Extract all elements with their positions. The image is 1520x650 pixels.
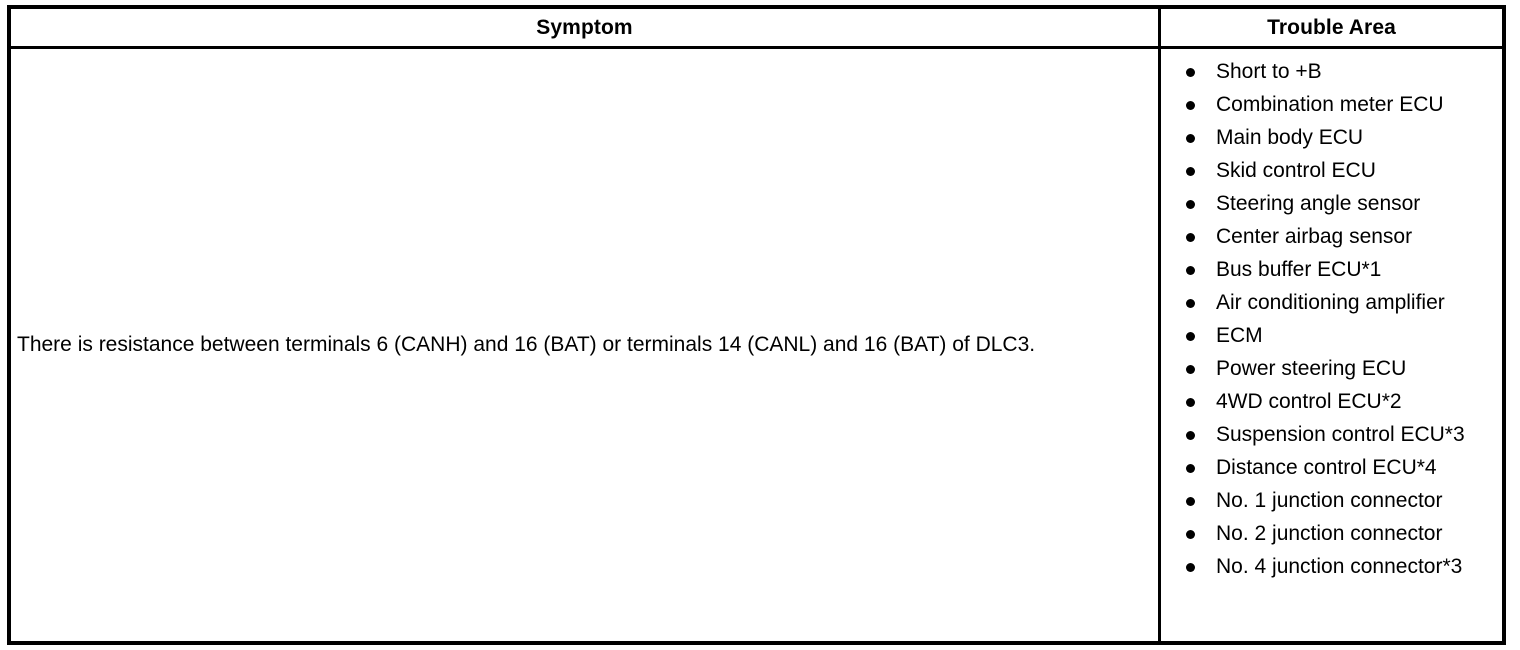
bullet-icon bbox=[1186, 266, 1195, 275]
list-item: Suspension control ECU*3 bbox=[1183, 418, 1498, 451]
list-item: Air conditioning amplifier bbox=[1183, 286, 1498, 319]
bullet-icon bbox=[1186, 431, 1195, 440]
list-item: Power steering ECU bbox=[1183, 352, 1498, 385]
page-canvas: Symptom Trouble Area There is resistance… bbox=[0, 0, 1520, 650]
list-item-label: ECM bbox=[1216, 324, 1263, 347]
bullet-icon bbox=[1186, 563, 1195, 572]
list-item: Bus buffer ECU*1 bbox=[1183, 253, 1498, 286]
bullet-icon bbox=[1186, 101, 1195, 110]
list-item-label: Center airbag sensor bbox=[1216, 225, 1412, 248]
list-item-label: Short to +B bbox=[1216, 60, 1322, 83]
bullet-icon bbox=[1186, 134, 1195, 143]
bullet-icon bbox=[1186, 398, 1195, 407]
bullet-icon bbox=[1186, 68, 1195, 77]
list-item-label: No. 1 junction connector bbox=[1216, 489, 1442, 512]
list-item-label: Air conditioning amplifier bbox=[1216, 291, 1445, 314]
list-item: Distance control ECU*4 bbox=[1183, 451, 1498, 484]
list-item: No. 2 junction connector bbox=[1183, 517, 1498, 550]
bullet-icon bbox=[1186, 233, 1195, 242]
list-item: 4WD control ECU*2 bbox=[1183, 385, 1498, 418]
list-item-label: Bus buffer ECU*1 bbox=[1216, 258, 1381, 281]
trouble-area-cell: Short to +B Combination meter ECU Main b… bbox=[1161, 49, 1502, 641]
list-item: Short to +B bbox=[1183, 55, 1498, 88]
list-item: Main body ECU bbox=[1183, 121, 1498, 154]
list-item-label: No. 2 junction connector bbox=[1216, 522, 1442, 545]
list-item: Combination meter ECU bbox=[1183, 88, 1498, 121]
bullet-icon bbox=[1186, 332, 1195, 341]
symptom-cell: There is resistance between terminals 6 … bbox=[11, 49, 1161, 641]
diagnostic-table: Symptom Trouble Area There is resistance… bbox=[7, 5, 1506, 645]
bullet-icon bbox=[1186, 464, 1195, 473]
list-item: No. 1 junction connector bbox=[1183, 484, 1498, 517]
list-item-label: Skid control ECU bbox=[1216, 159, 1376, 182]
list-item: No. 4 junction connector*3 bbox=[1183, 550, 1498, 583]
bullet-icon bbox=[1186, 365, 1195, 374]
bullet-icon bbox=[1186, 200, 1195, 209]
list-item-label: No. 4 junction connector*3 bbox=[1216, 555, 1462, 578]
table-header-row: Symptom Trouble Area bbox=[11, 9, 1502, 49]
bullet-icon bbox=[1186, 497, 1195, 506]
list-item-label: Combination meter ECU bbox=[1216, 93, 1444, 116]
list-item: Center airbag sensor bbox=[1183, 220, 1498, 253]
bullet-icon bbox=[1186, 530, 1195, 539]
list-item-label: Distance control ECU*4 bbox=[1216, 456, 1437, 479]
bullet-icon bbox=[1186, 167, 1195, 176]
list-item-label: 4WD control ECU*2 bbox=[1216, 390, 1402, 413]
column-header-symptom: Symptom bbox=[11, 9, 1161, 46]
bullet-icon bbox=[1186, 299, 1195, 308]
list-item: ECM bbox=[1183, 319, 1498, 352]
list-item-label: Suspension control ECU*3 bbox=[1216, 423, 1465, 446]
list-item-label: Steering angle sensor bbox=[1216, 192, 1420, 215]
list-item-label: Main body ECU bbox=[1216, 126, 1363, 149]
table-body-row: There is resistance between terminals 6 … bbox=[11, 49, 1502, 641]
list-item: Steering angle sensor bbox=[1183, 187, 1498, 220]
symptom-description: There is resistance between terminals 6 … bbox=[17, 329, 1035, 361]
list-item: Skid control ECU bbox=[1183, 154, 1498, 187]
column-header-trouble-area: Trouble Area bbox=[1161, 9, 1502, 46]
trouble-area-list: Short to +B Combination meter ECU Main b… bbox=[1183, 55, 1498, 583]
list-item-label: Power steering ECU bbox=[1216, 357, 1406, 380]
